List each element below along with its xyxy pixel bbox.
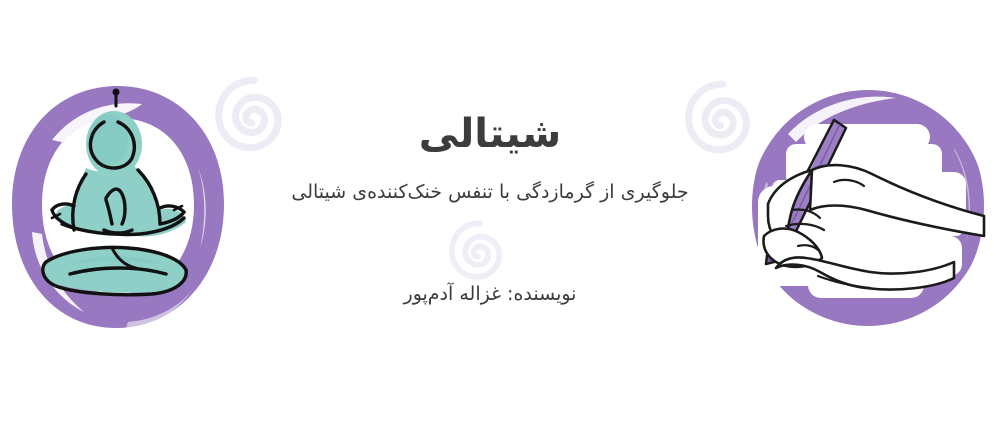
meditating-figure-illustration bbox=[8, 82, 228, 332]
writing-hand-illustration bbox=[748, 86, 988, 330]
page-title: شیتالی bbox=[240, 96, 740, 154]
author-line: نویسنده: غزاله آدم‌پور bbox=[240, 206, 740, 307]
page-root: شیتالی جلوگیری از گرمازدگی با تنفس خنک‌ک… bbox=[0, 0, 1000, 444]
center-text-block: شیتالی جلوگیری از گرمازدگی با تنفس خنک‌ک… bbox=[240, 96, 740, 336]
page-subtitle: جلوگیری از گرمازدگی با تنفس خنک‌کننده‌ی … bbox=[240, 154, 740, 206]
